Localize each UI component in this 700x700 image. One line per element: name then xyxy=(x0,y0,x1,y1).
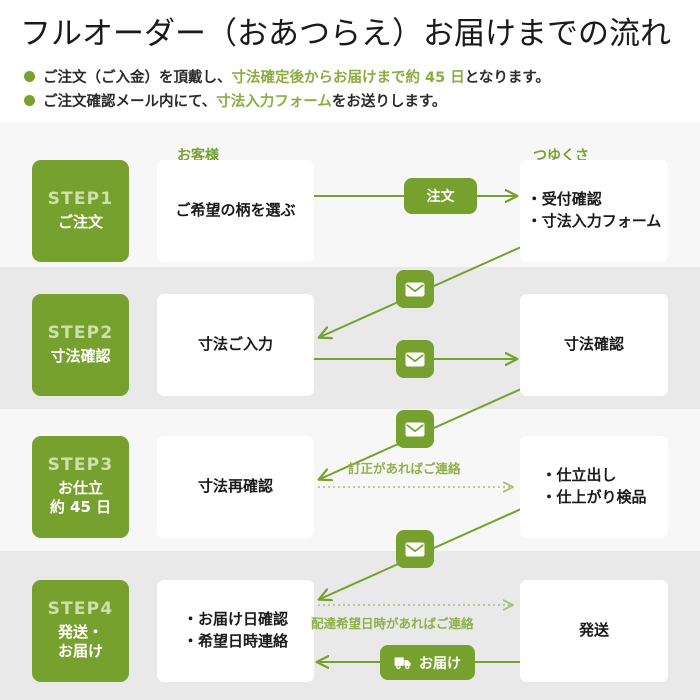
step-number-4: STEP4 xyxy=(48,600,114,619)
step-label-3-line-1: お仕立 xyxy=(58,479,103,497)
envelope-icon xyxy=(396,410,434,448)
page-title: フルオーダー（おあつらえ）お届けまでの流れ xyxy=(20,8,671,53)
note-2-after: をお送りします。 xyxy=(332,90,447,111)
bullet-icon xyxy=(24,71,35,82)
note-2-accent: 寸法入力フォーム xyxy=(216,90,332,111)
step-row-3: STEP3 お仕立 約 45 日 寸法再確認 ・仕立出し ・仕上がり検品 xyxy=(0,409,700,551)
customer-card-4-line-1: ・お届け日確認 xyxy=(183,609,288,631)
order-pill-label: 注文 xyxy=(427,186,455,206)
note-1-accent: 寸法確定後からお届けまで約 45 日 xyxy=(232,66,465,87)
caption-delivery-request: 配達希望日時があればご連絡 xyxy=(311,613,474,632)
customer-card-4-line-2: ・希望日時連絡 xyxy=(183,631,288,653)
step-badge-1: STEP1 ご注文 xyxy=(32,160,129,262)
envelope-icon xyxy=(396,530,434,568)
customer-card-2-text: 寸法ご入力 xyxy=(198,334,273,356)
company-card-1: ・受付確認 ・寸法入力フォーム xyxy=(520,160,668,262)
envelope-icon xyxy=(396,270,434,308)
step-number-3: STEP3 xyxy=(48,456,114,475)
note-line-2: ご注文確認メール内にて、 寸法入力フォーム をお送りします。 xyxy=(24,90,446,111)
customer-card-1-text: ご希望の柄を選ぶ xyxy=(175,200,295,222)
step-row-1: STEP1 ご注文 ご希望の柄を選ぶ ・受付確認 ・寸法入力フォーム xyxy=(0,122,700,267)
step-label-1: ご注文 xyxy=(58,213,103,232)
header: フルオーダー（おあつらえ）お届けまでの流れ ご注文（ご入金）を頂戴し、 寸法確定… xyxy=(0,0,700,122)
bullet-icon xyxy=(24,95,35,106)
caption-correction: 訂正があればご連絡 xyxy=(348,458,461,477)
step-label-3: お仕立 約 45 日 xyxy=(50,479,111,517)
company-card-4: 発送 xyxy=(520,580,668,682)
customer-card-2: 寸法ご入力 xyxy=(157,294,314,396)
step-number-1: STEP1 xyxy=(48,190,114,209)
delivery-pill-button[interactable]: お届け xyxy=(380,645,475,680)
customer-card-4: ・お届け日確認 ・希望日時連絡 xyxy=(157,580,314,682)
company-card-1-line-2: ・寸法入力フォーム xyxy=(527,211,662,233)
step-label-4: 発送・ お届け xyxy=(58,623,103,661)
step-badge-2: STEP2 寸法確認 xyxy=(32,294,129,396)
customer-card-3-text: 寸法再確認 xyxy=(198,476,273,498)
step-badge-4: STEP4 発送・ お届け xyxy=(32,580,129,682)
step-label-3-line-2: 約 45 日 xyxy=(50,498,111,516)
company-card-3-line-2: ・仕上がり検品 xyxy=(541,487,646,509)
company-card-3: ・仕立出し ・仕上がり検品 xyxy=(520,436,668,538)
step-label-4-line-2: お届け xyxy=(58,642,103,660)
step-label-2: 寸法確認 xyxy=(50,347,110,366)
customer-card-3: 寸法再確認 xyxy=(157,436,314,538)
note-2-before: ご注文確認メール内にて、 xyxy=(43,90,216,111)
company-card-4-text: 発送 xyxy=(579,620,609,642)
delivery-pill-label: お届け xyxy=(419,653,461,673)
step-row-2: STEP2 寸法確認 寸法ご入力 寸法確認 xyxy=(0,267,700,409)
company-card-2-text: 寸法確認 xyxy=(564,334,624,356)
company-card-2: 寸法確認 xyxy=(520,294,668,396)
company-card-1-line-1: ・受付確認 xyxy=(527,189,662,211)
envelope-icon xyxy=(396,340,434,378)
note-1-after: となります。 xyxy=(465,66,550,87)
step-number-2: STEP2 xyxy=(48,324,114,343)
truck-icon xyxy=(394,656,413,670)
step-label-4-line-1: 発送・ xyxy=(58,623,103,641)
customer-card-1: ご希望の柄を選ぶ xyxy=(157,160,314,262)
company-card-3-line-1: ・仕立出し xyxy=(541,465,646,487)
order-pill-button[interactable]: 注文 xyxy=(404,178,477,214)
note-1-before: ご注文（ご入金）を頂戴し、 xyxy=(43,66,232,87)
note-line-1: ご注文（ご入金）を頂戴し、 寸法確定後からお届けまで約 45 日 となります。 xyxy=(24,66,550,87)
step-badge-3: STEP3 お仕立 約 45 日 xyxy=(32,436,129,538)
